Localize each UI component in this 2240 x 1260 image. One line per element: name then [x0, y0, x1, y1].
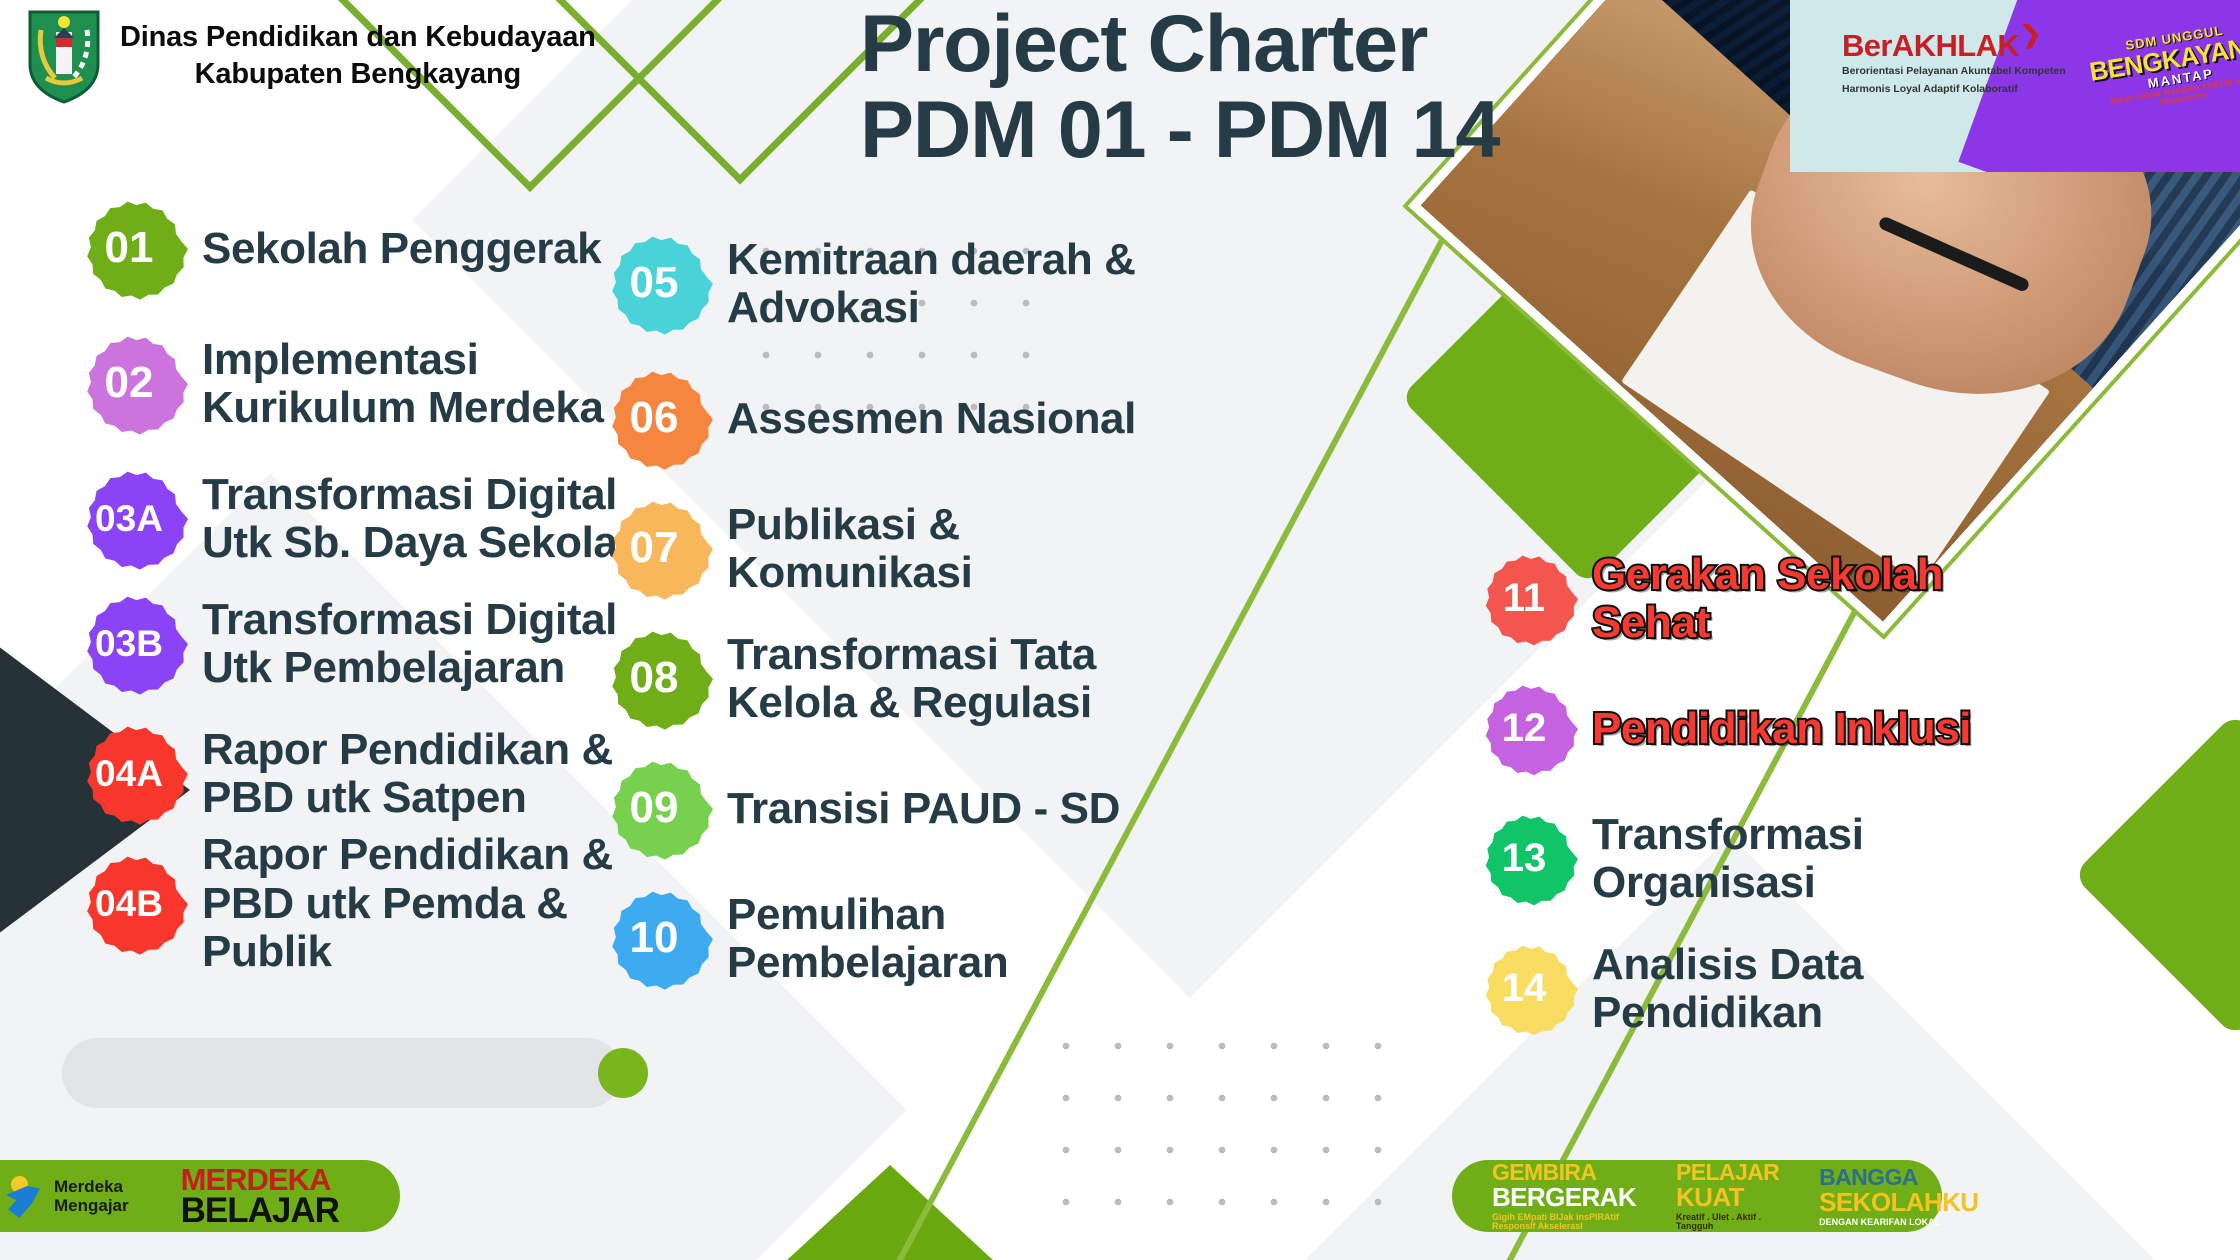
pdm-title-label: Pemulihan Pembelajaran — [727, 891, 1008, 988]
berakhlak-subtitle-1: Berorientasi Pelayanan Akuntabel Kompete… — [1842, 65, 2066, 79]
footer-badge-line-2: BERGERAK — [1492, 1184, 1636, 1210]
pdm-number-burst[interactable]: 07 — [595, 490, 713, 608]
bengkayang-crest-icon — [26, 8, 102, 104]
title-line-1: Project Charter — [860, 2, 1499, 88]
organization-header: Dinas Pendidikan dan Kebudayaan Kabupate… — [26, 8, 596, 104]
green-diamond-2 — [2072, 712, 2240, 1037]
footer-badge-line-1: GEMBIRA — [1492, 1161, 1636, 1184]
pdm-number-burst[interactable]: 04A — [70, 715, 188, 833]
pdm-item-row[interactable]: 09Transisi PAUD - SD — [595, 750, 1120, 868]
pdm-number-label: 03B — [95, 625, 163, 662]
pdm-number-burst[interactable]: 09 — [595, 750, 713, 868]
pdm-item-row[interactable]: 03ATransformasi Digital Utk Sb. Daya Sek… — [70, 460, 644, 578]
berakhlak-main: AKHLAK — [1892, 28, 2019, 63]
pdm-number-burst[interactable]: 10 — [595, 880, 713, 998]
pdm-number-burst[interactable]: 03B — [70, 585, 188, 703]
chevron-right-icon: ❯ — [2020, 22, 2043, 48]
pdm-number-burst[interactable]: 05 — [595, 225, 713, 343]
pdm-title-label: Publikasi & Komunikasi — [727, 501, 972, 598]
footer-bar-left: Merdeka Mengajar MERDEKA BELAJAR — [0, 1160, 400, 1232]
pdm-number-label: 02 — [105, 361, 154, 405]
pdm-title-label: Kemitraan daerah & Advokasi — [727, 236, 1136, 333]
footer-badge-line-3: Kreatif . Ulet . Aktif . Tangguh — [1676, 1213, 1779, 1231]
pdm-title-label: Gerakan Sekolah Sehat — [1592, 551, 1943, 648]
merdeka-belajar-logo: MERDEKA BELAJAR — [181, 1165, 339, 1228]
pdm-number-burst[interactable]: 13 — [1470, 805, 1578, 913]
pdm-number-label: 04A — [95, 755, 163, 792]
pdm-title-label: Transisi PAUD - SD — [727, 785, 1120, 833]
pdm-item-row[interactable]: 07Publikasi & Komunikasi — [595, 490, 972, 608]
pdm-number-label: 11 — [1503, 578, 1545, 618]
pdm-title-label: Analisis Data Pendidikan — [1592, 941, 1863, 1038]
pdm-title-label: Assesmen Nasional — [727, 395, 1136, 443]
pdm-number-label: 13 — [1502, 838, 1547, 878]
pdm-title-label: Transformasi Tata Kelola & Regulasi — [727, 631, 1096, 728]
pdm-number-burst[interactable]: 11 — [1470, 545, 1578, 653]
pdm-number-burst[interactable]: 06 — [595, 360, 713, 478]
pdm-title-label: Rapor Pendidikan & PBD utk Satpen — [202, 726, 613, 823]
pdm-number-burst[interactable]: 12 — [1470, 675, 1578, 783]
pdm-number-burst[interactable]: 02 — [70, 325, 188, 443]
pdm-title-label: Sekolah Penggerak — [202, 225, 601, 273]
footer-badge-line-1: BANGGA — [1819, 1166, 1978, 1189]
pdm-title-label: Transformasi Organisasi — [1592, 811, 1864, 908]
footer-badge-line-3: DENGAN KEARIFAN LOKAL — [1819, 1218, 1978, 1227]
pdm-number-burst[interactable]: 03A — [70, 460, 188, 578]
pdm-number-label: 14 — [1502, 968, 1547, 1008]
dot-grid-bottom — [1040, 1020, 1410, 1240]
pdm-item-row[interactable]: 03BTransformasi Digital Utk Pembelajaran — [70, 585, 617, 703]
pdm-number-label: 09 — [630, 786, 679, 830]
mm-body-swoosh — [6, 1186, 40, 1218]
pdm-item-row[interactable]: 01Sekolah Penggerak — [70, 190, 601, 308]
footer-badge: GEMBIRABERGERAKGigih EMpati BIJak insPIR… — [1492, 1161, 1636, 1231]
pdm-item-row[interactable]: 14Analisis Data Pendidikan — [1470, 935, 1863, 1043]
pdm-number-label: 03A — [95, 500, 163, 537]
footer-badge-group: GEMBIRABERGERAKGigih EMpati BIJak insPIR… — [1452, 1161, 1978, 1231]
merdeka-mengajar-icon — [6, 1174, 44, 1218]
footer-badge-line-3: Gigih EMpati BIJak insPIRAtif ResponsIf … — [1492, 1213, 1636, 1231]
pdm-item-row[interactable]: 11Gerakan Sekolah Sehat — [1470, 545, 1943, 653]
green-dot-accent — [598, 1048, 648, 1098]
pdm-title-label: Rapor Pendidikan & PBD utk Pemda & Publi… — [202, 831, 613, 976]
pdm-number-label: 05 — [630, 261, 679, 305]
pdm-item-row[interactable]: 08Transformasi Tata Kelola & Regulasi — [595, 620, 1096, 738]
pdm-number-burst[interactable]: 08 — [595, 620, 713, 738]
mb-line-1: MERDEKA — [181, 1165, 339, 1194]
pdm-number-label: 07 — [630, 526, 679, 570]
pdm-number-burst[interactable]: 01 — [70, 190, 188, 308]
pdm-item-row[interactable]: 13Transformasi Organisasi — [1470, 805, 1864, 913]
infographic-canvas: BerAKHLAK❯ Berorientasi Pelayanan Akunta… — [0, 0, 2240, 1260]
footer-badge-line-2: KUAT — [1676, 1184, 1779, 1210]
berakhlak-prefix: Ber — [1842, 28, 1892, 63]
pdm-number-label: 04B — [95, 885, 163, 922]
pdm-item-row[interactable]: 06Assesmen Nasional — [595, 360, 1136, 478]
mm-line-1: Merdeka — [54, 1177, 129, 1196]
merdeka-mengajar-label: Merdeka Mengajar — [54, 1177, 129, 1215]
pdm-item-row[interactable]: 04BRapor Pendidikan & PBD utk Pemda & Pu… — [70, 845, 613, 963]
pdm-item-row[interactable]: 02Implementasi Kurikulum Merdeka — [70, 325, 604, 443]
pdm-number-burst[interactable]: 14 — [1470, 935, 1578, 1043]
footer-badge: PELAJARKUATKreatif . Ulet . Aktif . Tang… — [1676, 1161, 1779, 1231]
pdm-number-label: 06 — [630, 396, 679, 440]
pdm-title-label: Implementasi Kurikulum Merdeka — [202, 336, 604, 433]
pdm-number-label: 10 — [630, 916, 679, 960]
pdm-number-label: 12 — [1502, 708, 1547, 748]
berakhlak-wordmark: BerAKHLAK❯ — [1842, 30, 2066, 61]
mb-line-2: BELAJAR — [181, 1194, 339, 1227]
berakhlak-logo: BerAKHLAK❯ Berorientasi Pelayanan Akunta… — [1842, 30, 2066, 97]
mm-line-2: Mengajar — [54, 1196, 129, 1215]
title-line-2: PDM 01 - PDM 14 — [860, 88, 1499, 174]
footer-badge-line-1: PELAJAR — [1676, 1161, 1779, 1184]
pdm-number-burst[interactable]: 04B — [70, 845, 188, 963]
berakhlak-subtitle-2: Harmonis Loyal Adaptif Kolaboratif — [1842, 83, 2066, 97]
page-title: Project Charter PDM 01 - PDM 14 — [860, 2, 1499, 174]
pdm-number-label: 08 — [630, 656, 679, 700]
footer-bar-right: GEMBIRABERGERAKGigih EMpati BIJak insPIR… — [1452, 1160, 1942, 1232]
pdm-item-row[interactable]: 04ARapor Pendidikan & PBD utk Satpen — [70, 715, 613, 833]
pdm-number-label: 01 — [105, 226, 154, 270]
footer-badge-line-2: SEKOLAHKU — [1819, 1189, 1978, 1215]
pdm-item-row[interactable]: 05Kemitraan daerah & Advokasi — [595, 225, 1136, 343]
pdm-title-label: Pendidikan Inklusi — [1592, 705, 1971, 753]
pdm-title-label: Transformasi Digital Utk Pembelajaran — [202, 596, 617, 693]
footer-badge: BANGGASEKOLAHKUDENGAN KEARIFAN LOKAL — [1819, 1166, 1978, 1227]
highlight-pill-04b — [62, 1038, 622, 1108]
organization-line-2: Kabupaten Bengkayang — [120, 56, 596, 93]
pdm-item-row[interactable]: 10Pemulihan Pembelajaran — [595, 880, 1008, 998]
green-triangle-accent — [760, 1165, 1020, 1260]
merdeka-mengajar-logo: Merdeka Mengajar — [6, 1174, 129, 1218]
organization-line-1: Dinas Pendidikan dan Kebudayaan — [120, 19, 596, 56]
pdm-title-label: Transformasi Digital Utk Sb. Daya Sekola… — [202, 471, 644, 568]
pdm-item-row[interactable]: 12Pendidikan Inklusi — [1470, 675, 1971, 783]
organization-name: Dinas Pendidikan dan Kebudayaan Kabupate… — [120, 19, 596, 93]
berakhlak-banner: BerAKHLAK❯ Berorientasi Pelayanan Akunta… — [1790, 0, 2240, 172]
